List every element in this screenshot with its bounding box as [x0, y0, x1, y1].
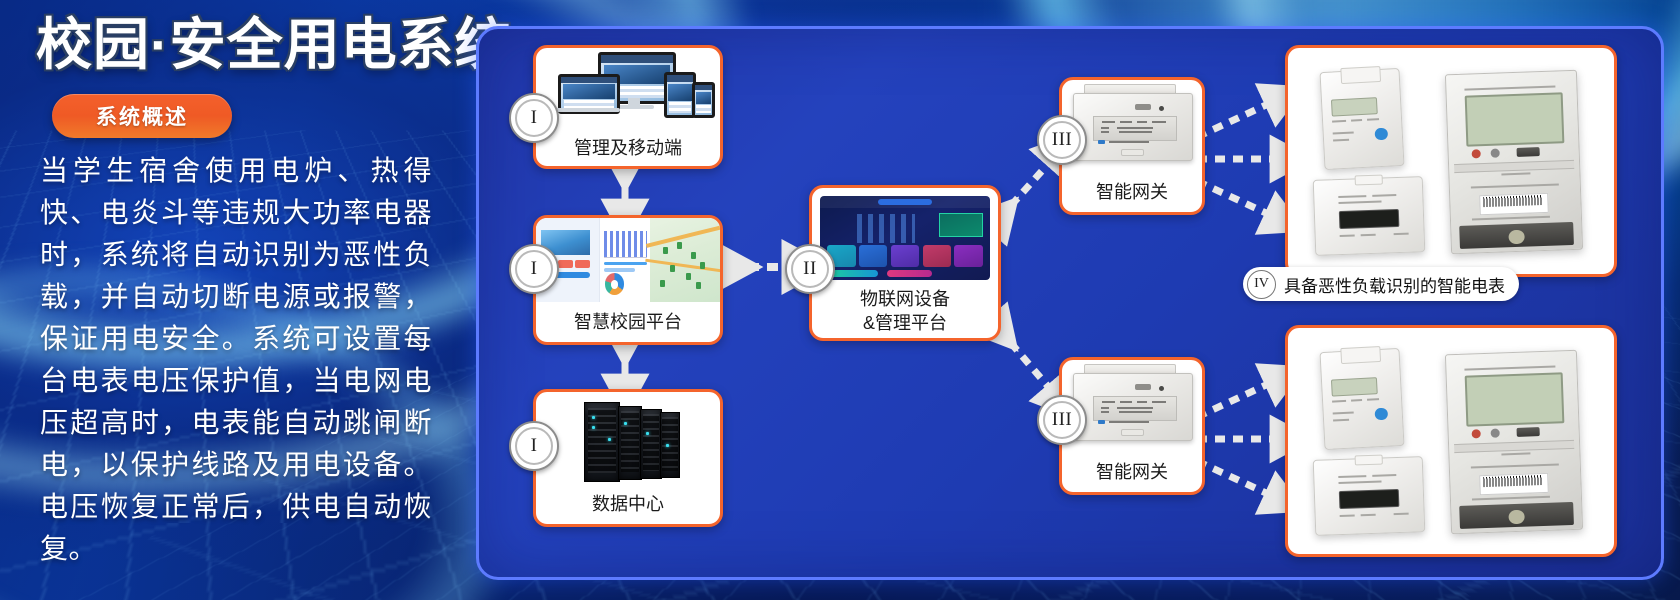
infographic-root: 校园·安全用电系统 系统概述 当学生宿舍使用电炉、热得快、电炎斗等违规大功率电器…	[0, 0, 1680, 600]
node-iot-platform-label: 物联网设备 &管理平台	[812, 284, 998, 338]
devices-screens-icon	[536, 48, 720, 124]
arrow-iot-to-gateway-bottom	[999, 329, 1057, 397]
node-data-center[interactable]: 数据中心	[533, 389, 723, 527]
iot-label-line1: 物联网设备	[860, 287, 950, 311]
page-title: 校园·安全用电系统	[36, 12, 512, 78]
arrow-gateway-top-to-meters	[1197, 99, 1285, 219]
iot-label-line2: &管理平台	[863, 311, 947, 335]
smart-meter-caption-text: 具备恶性负载识别的智能电表	[1284, 272, 1505, 297]
smart-meter-large-icon	[1445, 350, 1583, 534]
badge-gateway-bottom: III	[1037, 395, 1087, 445]
badge-smart-meter: IV	[1247, 270, 1276, 299]
node-smart-campus-label: 智慧校园平台	[536, 302, 720, 342]
three-phase-din-meter-icon	[1313, 456, 1426, 536]
single-phase-meter-icon	[1319, 68, 1404, 170]
node-data-center-label: 数据中心	[536, 484, 720, 524]
node-admin-mobile[interactable]: 管理及移动端	[533, 45, 723, 169]
smart-meter-caption: IV 具备恶性负载识别的智能电表	[1243, 267, 1519, 301]
node-gateway-top-label: 智能网关	[1062, 172, 1202, 212]
smart-meter-large-icon	[1445, 70, 1583, 254]
arrow-iot-to-gateway-top	[999, 154, 1057, 219]
phone-icon	[692, 82, 715, 118]
badge-smart-campus: I	[509, 244, 559, 294]
architecture-diagram: 管理及移动端 I	[476, 26, 1664, 580]
badge-admin-mobile: I	[509, 93, 559, 143]
badge-iot-platform: II	[785, 244, 835, 294]
section-pill-label: 系统概述	[96, 101, 188, 131]
node-iot-platform[interactable]: 物联网设备 &管理平台	[809, 185, 1001, 341]
meter-panel-top[interactable]	[1285, 45, 1617, 277]
arrow-gateway-bottom-to-meters	[1197, 379, 1285, 499]
badge-data-center: I	[509, 421, 559, 471]
meter-panel-bottom[interactable]	[1285, 325, 1617, 557]
iot-dashboard-icon	[820, 196, 990, 280]
three-phase-din-meter-icon	[1313, 176, 1426, 256]
node-smart-campus[interactable]: 智慧校园平台	[533, 215, 723, 345]
dashboard-map-icon	[536, 218, 720, 302]
left-panel: 校园·安全用电系统 系统概述 当学生宿舍使用电炉、热得快、电炎斗等违规大功率电器…	[0, 0, 470, 600]
badge-gateway-top: III	[1037, 115, 1087, 165]
server-rack-icon	[536, 392, 720, 484]
overview-description: 当学生宿舍使用电炉、热得快、电炎斗等违规大功率电器时，系统将自动识别为恶性负载，…	[40, 150, 432, 570]
single-phase-meter-icon	[1319, 348, 1404, 450]
section-pill: 系统概述	[52, 94, 232, 138]
node-gateway-bottom-label: 智能网关	[1062, 452, 1202, 492]
node-admin-mobile-label: 管理及移动端	[536, 130, 720, 166]
